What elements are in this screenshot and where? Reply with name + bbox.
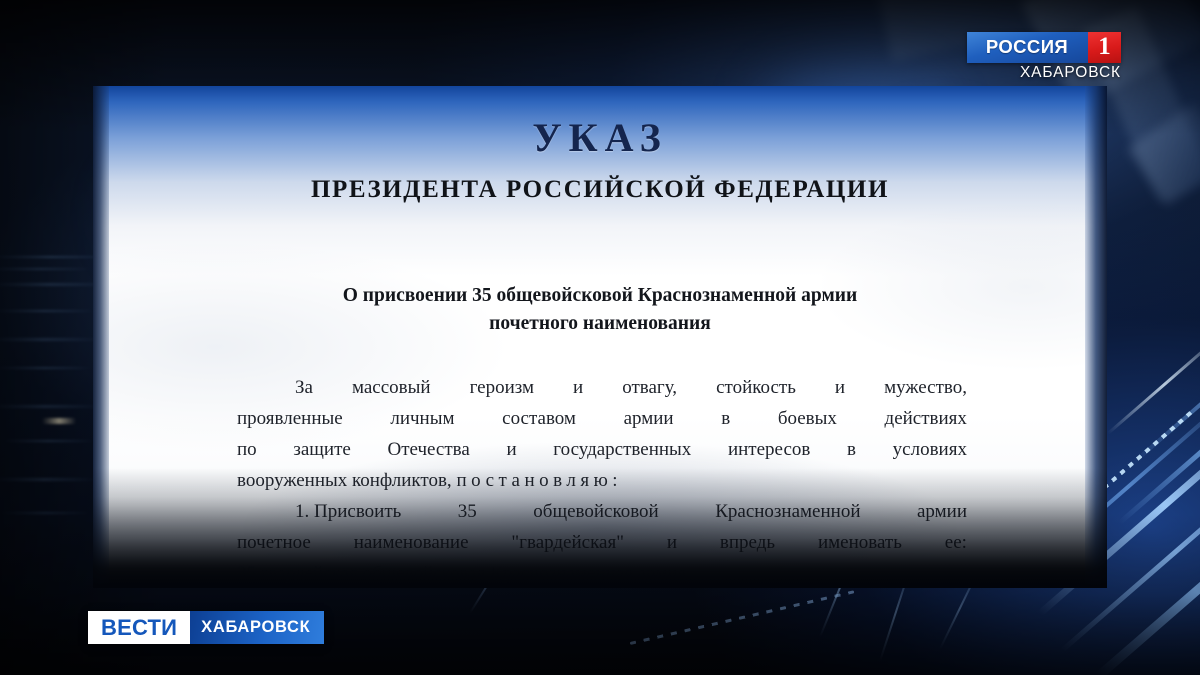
- word: "гвардейская": [511, 527, 624, 558]
- word: личным: [390, 403, 454, 434]
- decree-document-panel: УКАЗ ПРЕЗИДЕНТА РОССИЙСКОЙ ФЕДЕРАЦИИ О п…: [93, 86, 1107, 588]
- word: в: [721, 403, 730, 434]
- word: именовать: [818, 527, 902, 558]
- document-body: За массовый героизм и отвагу, стойкость …: [237, 372, 967, 588]
- program-bug-name: ВЕСТИ: [88, 611, 190, 644]
- word: по: [237, 434, 257, 465]
- document-body-line-faded: 35 гвардейская общевойсковая Краснознаме…: [237, 558, 967, 588]
- channel-logo: РОССИЯ 1: [967, 32, 1121, 63]
- program-bug-region: ХАБАРОВСК: [190, 611, 324, 644]
- channel-logo-number-text: 1: [1098, 34, 1111, 59]
- word: составом: [502, 403, 576, 434]
- word: условиях: [893, 434, 967, 465]
- word: государственных: [553, 434, 691, 465]
- program-bug: ВЕСТИ ХАБАРОВСК: [88, 611, 324, 644]
- word: общевойсковой: [533, 496, 658, 527]
- word: 35: [458, 496, 477, 527]
- word-emphasis: постановляю:: [456, 470, 622, 491]
- document-content: УКАЗ ПРЕЗИДЕНТА РОССИЙСКОЙ ФЕДЕРАЦИИ О п…: [115, 86, 1085, 588]
- word: и: [506, 434, 516, 465]
- word: стойкость: [716, 372, 796, 403]
- word: героизм: [470, 372, 534, 403]
- channel-logo-name: РОССИЯ: [967, 32, 1088, 63]
- word: За: [295, 372, 313, 403]
- word: наименование: [354, 527, 469, 558]
- word: и: [667, 527, 677, 558]
- word: впредь: [720, 527, 775, 558]
- broadcast-screen: УКАЗ ПРЕЗИДЕНТА РОССИЙСКОЙ ФЕДЕРАЦИИ О п…: [0, 0, 1200, 675]
- word: почетное: [237, 527, 311, 558]
- word: действиях: [885, 403, 967, 434]
- document-right-edge: [1085, 86, 1107, 588]
- word: Отечества: [387, 434, 469, 465]
- document-body-line: вооруженных конфликтов, постановляю:: [237, 465, 967, 496]
- document-body-line: по защите Отечества и государственных ин…: [237, 434, 967, 465]
- word: и: [835, 372, 845, 403]
- word: армии: [917, 496, 967, 527]
- channel-logo-number-badge: 1: [1088, 32, 1121, 63]
- document-heading-line-1: О присвоении 35 общевойсковой Краснознам…: [175, 282, 1025, 310]
- word: мужество,: [884, 372, 967, 403]
- document-title: УКАЗ: [115, 114, 1085, 161]
- document-body-line: За массовый героизм и отвагу, стойкость …: [237, 372, 967, 403]
- program-bug-region-text: ХАБАРОВСК: [201, 619, 310, 636]
- document-body-line: проявленные личным составом армии в боев…: [237, 403, 967, 434]
- channel-logo-name-text: РОССИЯ: [986, 38, 1068, 57]
- word: 1. Присвоить: [295, 496, 401, 527]
- word: вооруженных конфликтов,: [237, 470, 452, 491]
- word: боевых: [778, 403, 837, 434]
- word: защите: [293, 434, 350, 465]
- document-heading-line-2: почетного наименования: [175, 310, 1025, 338]
- document-subtitle: ПРЕЗИДЕНТА РОССИЙСКОЙ ФЕДЕРАЦИИ: [115, 176, 1085, 204]
- word: ее:: [945, 527, 967, 558]
- document-heading: О присвоении 35 общевойсковой Краснознам…: [175, 282, 1025, 337]
- word: армии: [624, 403, 674, 434]
- word: отвагу,: [622, 372, 677, 403]
- word: и: [573, 372, 583, 403]
- document-body-line: почетное наименование "гвардейская" и вп…: [237, 527, 967, 558]
- word: в: [847, 434, 856, 465]
- word: интересов: [728, 434, 810, 465]
- channel-logo-region: ХАБАРОВСК: [967, 64, 1121, 82]
- program-bug-name-text: ВЕСТИ: [101, 617, 177, 639]
- word: Краснознаменной: [715, 496, 860, 527]
- document-body-line: 1. Присвоить 35 общевойсковой Краснознам…: [237, 496, 967, 527]
- word: проявленные: [237, 403, 343, 434]
- word: массовый: [352, 372, 431, 403]
- document-left-edge: [93, 86, 109, 588]
